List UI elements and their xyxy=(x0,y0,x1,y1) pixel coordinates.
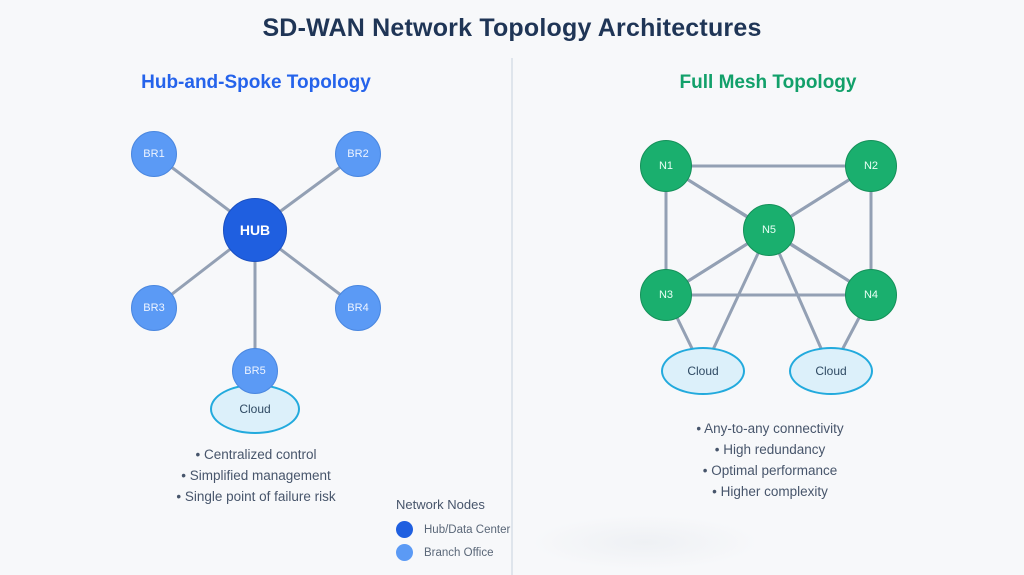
bullet-item: • High redundancy xyxy=(570,439,970,460)
network-node-br3[interactable]: BR3 xyxy=(131,285,177,331)
network-node-br4[interactable]: BR4 xyxy=(335,285,381,331)
left-panel-heading: Hub-and-Spoke Topology xyxy=(0,72,512,94)
network-node-br2[interactable]: BR2 xyxy=(335,131,381,177)
network-node-br1[interactable]: BR1 xyxy=(131,131,177,177)
network-node-label: N3 xyxy=(659,289,673,301)
network-node-label: BR5 xyxy=(244,365,265,377)
network-node-label: BR4 xyxy=(347,302,368,314)
cloud-node-label: Cloud xyxy=(239,402,270,416)
legend-item-label: Hub/Data Center xyxy=(424,524,510,536)
cloud-node-label: Cloud xyxy=(815,364,846,378)
bullet-item: • Centralized control xyxy=(56,444,456,465)
right-panel-heading: Full Mesh Topology xyxy=(512,72,1024,94)
network-node-label: BR1 xyxy=(143,148,164,160)
right-panel-bullets: • Any-to-any connectivity• High redundan… xyxy=(570,418,970,502)
network-node-label: BR2 xyxy=(347,148,368,160)
network-node-label: N5 xyxy=(762,224,776,236)
cloud-node-label: Cloud xyxy=(687,364,718,378)
bullet-item: • Optimal performance xyxy=(570,460,970,481)
panel-divider xyxy=(511,58,513,575)
network-node-label: N2 xyxy=(864,160,878,172)
diagram-canvas: SD-WAN Network Topology Architectures Hu… xyxy=(0,0,1024,575)
cloud-node[interactable]: Cloud xyxy=(789,347,873,395)
legend-title: Network Nodes xyxy=(396,497,510,512)
network-node-n2[interactable]: N2 xyxy=(845,140,897,192)
legend-items: Hub/Data CenterBranch Office xyxy=(396,521,510,561)
legend-item-label: Branch Office xyxy=(424,547,493,559)
network-node-n1[interactable]: N1 xyxy=(640,140,692,192)
network-node-label: HUB xyxy=(240,222,270,238)
page-title: SD-WAN Network Topology Architectures xyxy=(0,14,1024,43)
network-node-label: BR3 xyxy=(143,302,164,314)
bullet-item: • Any-to-any connectivity xyxy=(570,418,970,439)
network-node-n3[interactable]: N3 xyxy=(640,269,692,321)
bullet-item: • Higher complexity xyxy=(570,481,970,502)
network-node-hub[interactable]: HUB xyxy=(223,198,287,262)
legend-item: Hub/Data Center xyxy=(396,521,510,538)
network-node-n5[interactable]: N5 xyxy=(743,204,795,256)
network-node-label: N4 xyxy=(864,289,878,301)
network-node-label: N1 xyxy=(659,160,673,172)
legend-color-dot xyxy=(396,544,413,561)
network-node-br5[interactable]: BR5 xyxy=(232,348,278,394)
legend: Network Nodes Hub/Data CenterBranch Offi… xyxy=(396,497,510,567)
bullet-item: • Simplified management xyxy=(56,465,456,486)
network-node-n4[interactable]: N4 xyxy=(845,269,897,321)
watermark xyxy=(530,515,760,570)
cloud-node[interactable]: Cloud xyxy=(661,347,745,395)
legend-item: Branch Office xyxy=(396,544,510,561)
legend-color-dot xyxy=(396,521,413,538)
